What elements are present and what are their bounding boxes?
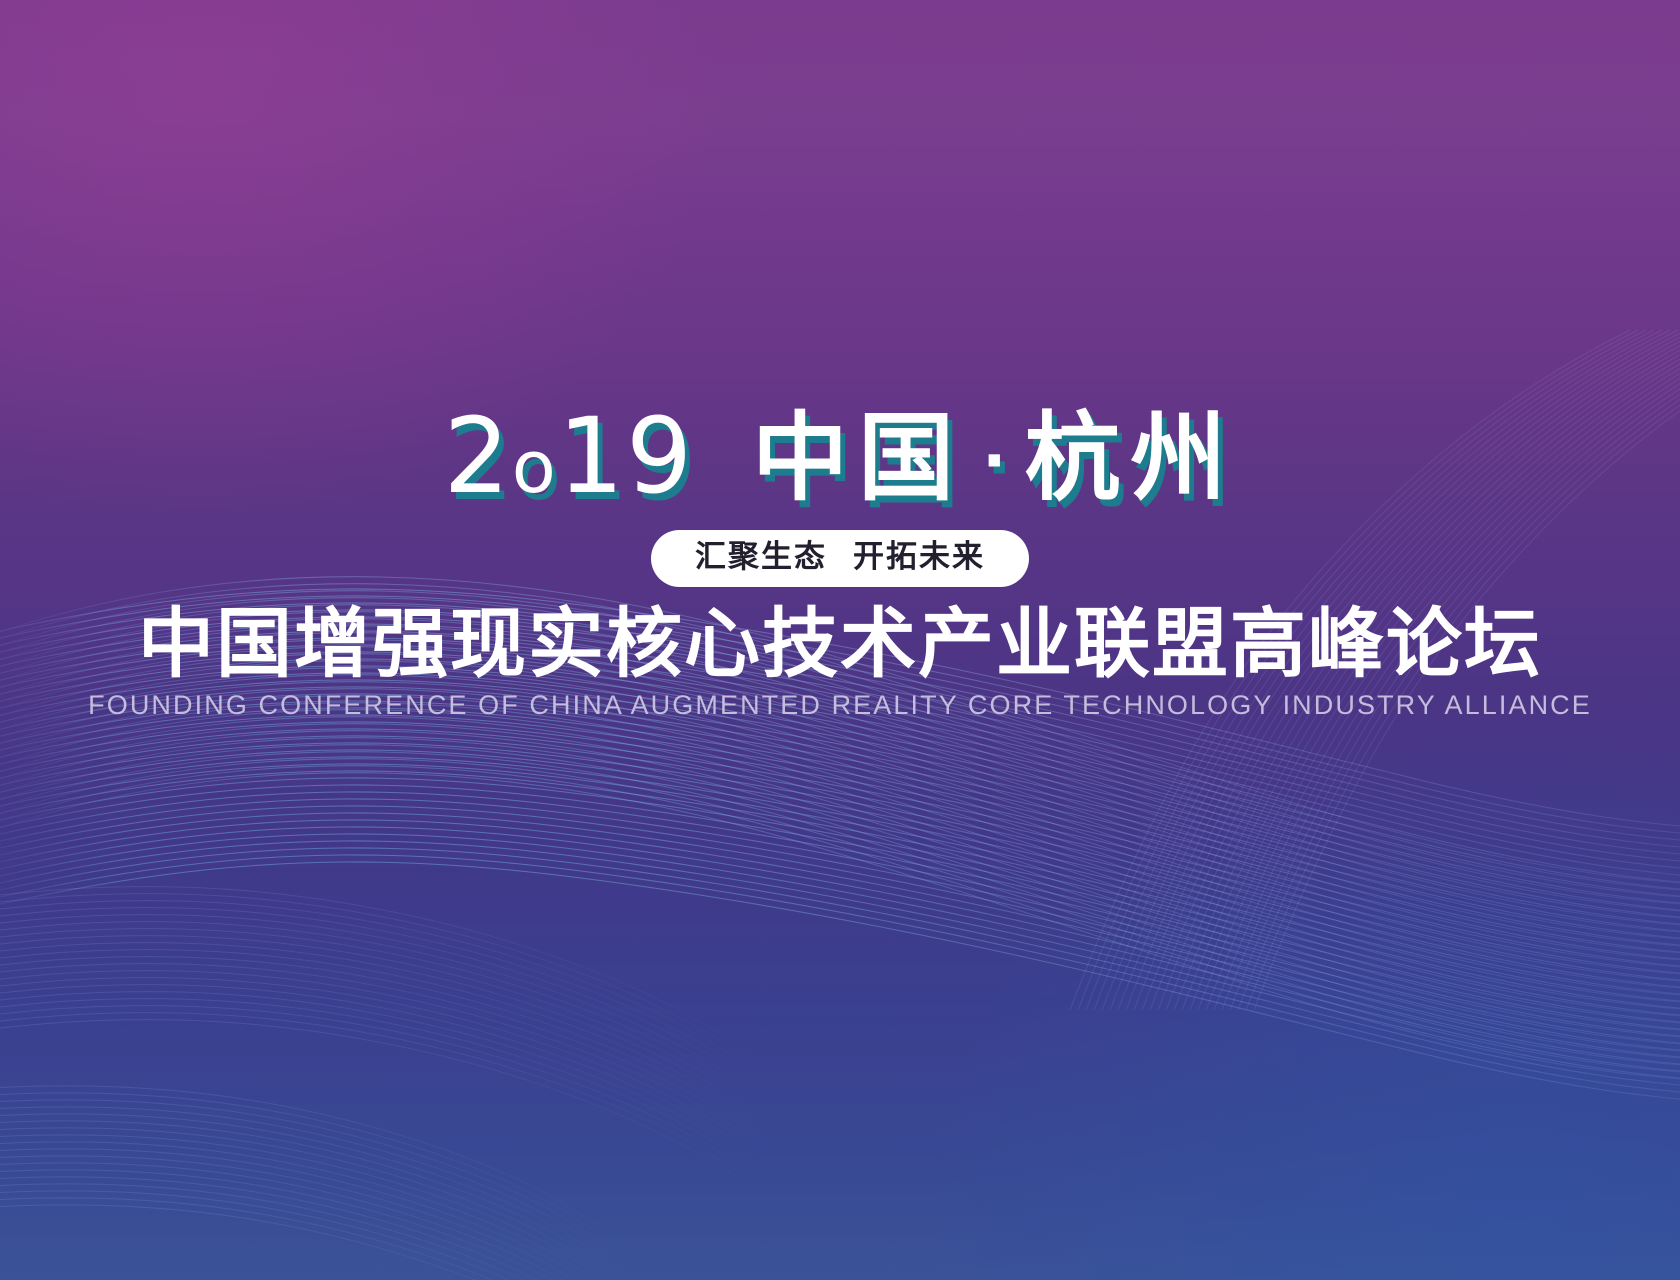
event-year-digit-2: 2 xyxy=(444,395,512,517)
event-year-letter-o: o xyxy=(512,425,558,509)
event-location: 中国·杭州 xyxy=(752,410,1236,506)
event-year: 2o19 xyxy=(444,404,695,508)
poster-content: 2o19 中国·杭州 汇聚生态开拓未来 中国增强现实核心技术产业联盟高峰论坛 F… xyxy=(0,398,1680,720)
slogan-badge: 汇聚生态开拓未来 xyxy=(651,530,1029,587)
slogan-left-text: 汇聚生态 xyxy=(695,539,827,574)
slogan-right-text: 开拓未来 xyxy=(853,539,985,574)
glow-bottom-right xyxy=(920,720,1680,1280)
poster-canvas: 2o19 中国·杭州 汇聚生态开拓未来 中国增强现实核心技术产业联盟高峰论坛 F… xyxy=(0,0,1680,1280)
conference-subtitle-en: FOUNDING CONFERENCE OF CHINA AUGMENTED R… xyxy=(88,691,1592,721)
event-country-label: 中国 xyxy=(752,402,964,514)
conference-headline-cn: 中国增强现实核心技术产业联盟高峰论坛 xyxy=(138,603,1542,685)
event-city-label: 杭州 xyxy=(1024,402,1236,514)
separator-dot: · xyxy=(964,425,1024,499)
event-year-digits-19: 19 xyxy=(558,395,694,517)
event-title-row: 2o19 中国·杭州 xyxy=(444,398,1237,506)
